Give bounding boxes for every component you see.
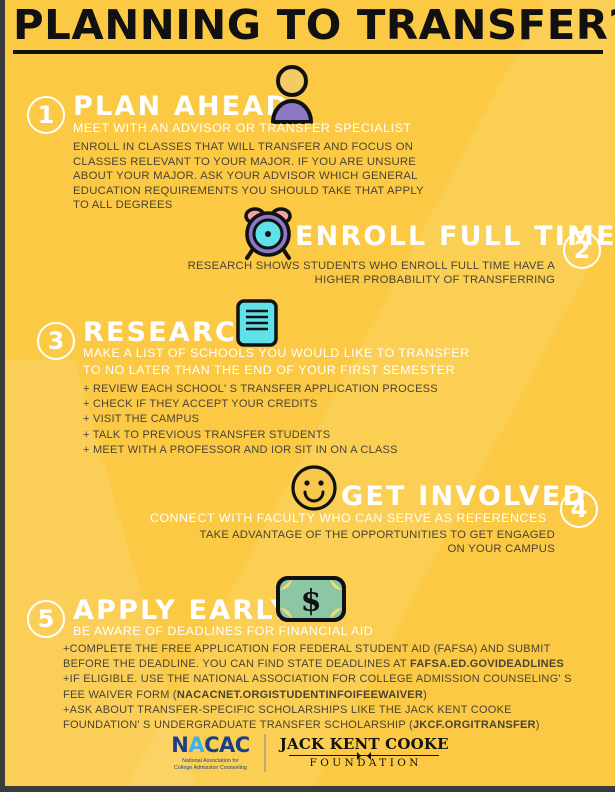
- section-3-bullet-list: + REVIEW EACH SCHOOL' S TRANSFER APPLICA…: [83, 382, 523, 458]
- list-item: + CHECK IF THEY ACCEPT YOUR CREDITS: [83, 397, 523, 412]
- section-body-4-line2: ON YOUR CAMPUS: [155, 542, 555, 557]
- title-underline: [13, 50, 603, 54]
- list-item: + REVIEW EACH SCHOOL' S TRANSFER APPLICA…: [83, 382, 523, 397]
- section-body-2-line1: RESEARCH SHOWS STUDENTS WHO ENROLL FULL …: [155, 259, 555, 274]
- footer-logos: NACAC National Association for College A…: [5, 734, 615, 772]
- jack-kent-cooke-logo: JACK KENT COOKE FOUNDATION: [280, 736, 449, 770]
- section-get-involved: GET INVOLVED 4 CONNECT WITH FACULTY WHO …: [5, 462, 615, 562]
- alarm-clock-icon: [243, 205, 293, 261]
- section-research: 3 RESEARCH MAKE A LIST OF SCHOOLS YOU WO…: [5, 300, 615, 460]
- section-body-4-line1: TAKE ADVANTAGE OF THE OPPORTUNITIES TO G…: [155, 528, 555, 543]
- section-body-2-line2: HIGHER PROBABILITY OF TRANSFERRING: [155, 273, 555, 288]
- section-enroll-full-time: ENROLL FULL TIME 2 RESEARCH SHOWS STUDEN…: [5, 205, 615, 290]
- bullet-link[interactable]: NACACNET.ORGISTUDENTINFOIFEEWAIVER: [177, 689, 423, 701]
- section-apply-early: 5 APPLY EARLY $ BE AWARE OF DEADLINES FO…: [5, 578, 615, 728]
- section-body-1: ENROLL IN CLASSES THAT WILL TRANSFER AND…: [73, 140, 438, 213]
- section-subheading-3-line2: TO NO LATER THAN THE END OF YOUR FIRST S…: [83, 363, 455, 378]
- step-number-3: 3: [37, 322, 75, 360]
- nacac-tagline-line1: National Association for: [174, 758, 247, 764]
- section-heading-5: APPLY EARLY: [73, 596, 292, 625]
- page-title: PLANNING TO TRANSFER?: [13, 2, 615, 48]
- section-subheading-1: MEET WITH AN ADVISOR OR TRANSFER SPECIAL…: [73, 121, 412, 136]
- nacac-cac: CAC: [204, 733, 250, 757]
- jkc-wordmark: JACK KENT COOKE: [280, 736, 449, 753]
- footer-divider: [264, 734, 266, 772]
- section-heading-4: GET INVOLVED: [341, 482, 587, 511]
- section-plan-ahead: 1 PLAN AHEAD MEET WITH AN ADVISOR OR TRA…: [5, 88, 615, 203]
- nacac-wordmark: NACAC: [171, 735, 249, 756]
- list-item: +ASK ABOUT TRANSFER-SPECIFIC SCHOLARSHIP…: [63, 703, 578, 733]
- nacac-tagline-line2: College Admission Counseling: [174, 765, 247, 771]
- step-number-2: 2: [563, 231, 601, 269]
- money-bill-icon: $: [275, 574, 347, 624]
- bullet-link[interactable]: JKCF.ORGITRANSFER: [413, 719, 536, 731]
- person-icon: [267, 64, 317, 124]
- section-subheading-3-line1: MAKE A LIST OF SCHOOLS YOU WOULD LIKE TO…: [83, 346, 470, 361]
- nacac-tagline: National Association for College Admissi…: [174, 758, 247, 771]
- list-item: + MEET WITH A PROFESSOR AND IOR SIT IN O…: [83, 443, 523, 458]
- list-item: + VISIT THE CAMPUS: [83, 412, 523, 427]
- step-number-1: 1: [27, 96, 65, 134]
- step-number-5: 5: [27, 600, 65, 638]
- bullet-text-tail: ): [536, 719, 540, 731]
- nacac-a: A: [188, 733, 204, 757]
- bullet-link[interactable]: FAFSA.ED.GOVIDEADLINES: [410, 658, 564, 670]
- section-5-bullet-list: +COMPLETE THE FREE APPLICATION FOR FEDER…: [63, 642, 578, 733]
- poster-title-block: PLANNING TO TRANSFER?: [13, 2, 613, 54]
- document-icon: [235, 298, 279, 348]
- list-item: +IF ELIGIBLE. USE THE NATIONAL ASSOCIATI…: [63, 672, 578, 702]
- section-subheading-5: BE AWARE OF DEADLINES FOR FINANCIAL AID: [73, 624, 373, 639]
- section-subheading-4: CONNECT WITH FACULTY WHO CAN SERVE AS RE…: [150, 511, 547, 526]
- list-item: + TALK TO PREVIOUS TRANSFER STUDENTS: [83, 428, 523, 443]
- section-heading-1: PLAN AHEAD: [73, 92, 290, 121]
- infographic-poster: PLANNING TO TRANSFER? 1 PLAN AHEAD MEET …: [0, 0, 615, 792]
- smiley-face-icon: [290, 464, 338, 512]
- svg-text:$: $: [301, 584, 322, 619]
- list-item: +COMPLETE THE FREE APPLICATION FOR FEDER…: [63, 642, 578, 672]
- jkc-diamond-rule: [289, 755, 439, 756]
- step-number-4: 4: [560, 490, 598, 528]
- bullet-text-tail: ): [423, 689, 427, 701]
- nacac-logo: NACAC National Association for College A…: [171, 735, 249, 771]
- nacac-n: N: [171, 733, 188, 757]
